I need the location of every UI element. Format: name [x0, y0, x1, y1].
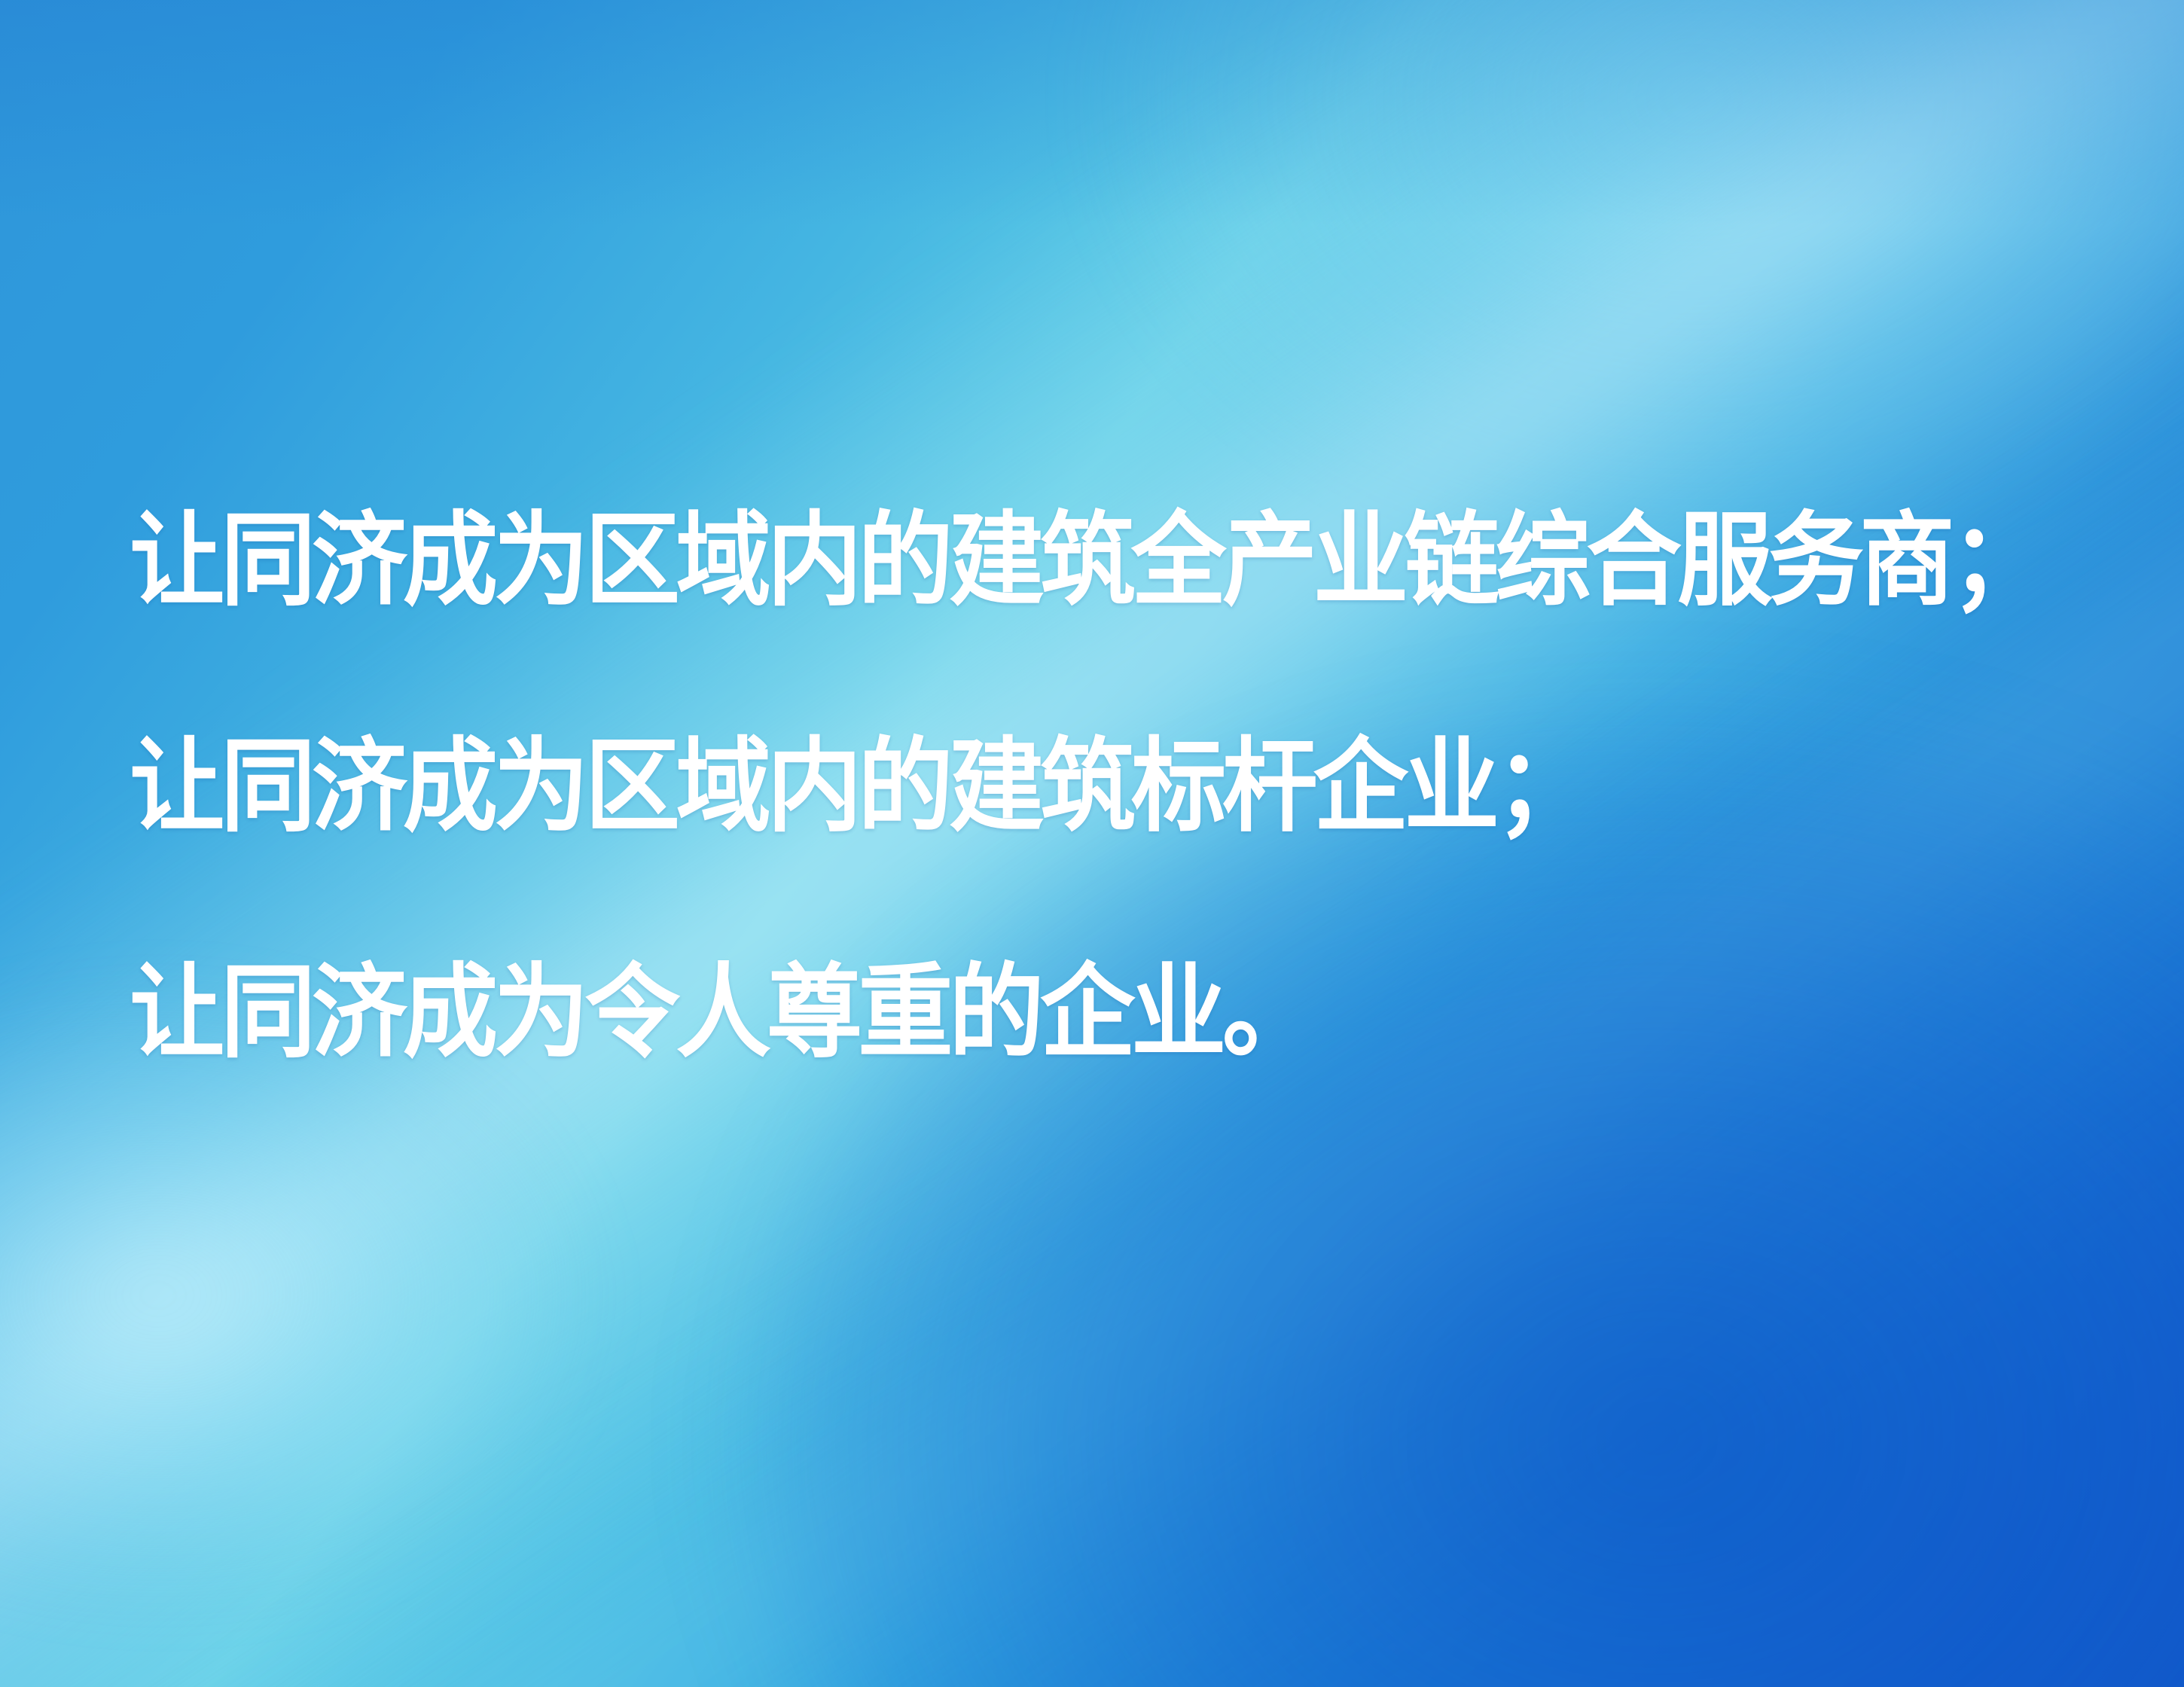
slide-canvas: 让同济成为区域内的建筑全产业链综合服务商； 让同济成为区域内的建筑标杆企业； 让… — [0, 0, 2184, 1687]
slide-line-2: 让同济成为区域内的建筑标杆企业； — [130, 675, 1951, 901]
slide-text-block: 让同济成为区域内的建筑全产业链综合服务商； 让同济成为区域内的建筑标杆企业； 让… — [130, 449, 2088, 1127]
slide-line-3: 让同济成为令人尊重的企业。 — [130, 901, 1951, 1127]
slide-line-1: 让同济成为区域内的建筑全产业链综合服务商； — [130, 449, 1951, 675]
